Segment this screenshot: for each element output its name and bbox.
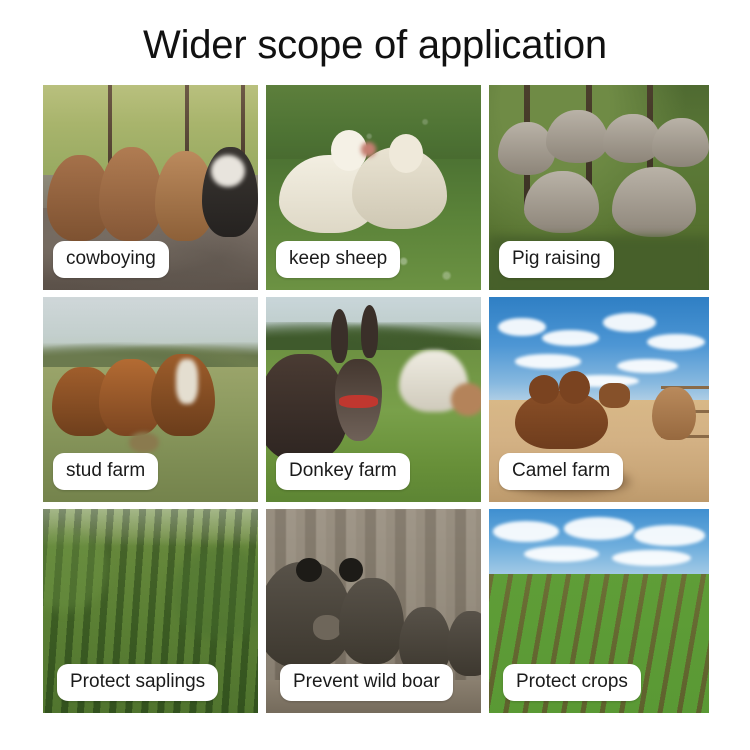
promo-grid-page: Wider scope of application cowboying (0, 0, 750, 750)
cell-label-donkey-farm: Donkey farm (276, 453, 410, 490)
page-title: Wider scope of application (0, 22, 750, 68)
grid-cell-cowboying[interactable]: cowboying (43, 85, 258, 290)
cell-label-stud-farm: stud farm (53, 453, 158, 490)
grid-cell-protect-crops[interactable]: Protect crops (489, 509, 709, 713)
grid-cell-keep-sheep[interactable]: keep sheep (266, 85, 481, 290)
grid-cell-pig-raising[interactable]: Pig raising (489, 85, 709, 290)
grid-cell-protect-saplings[interactable]: Protect saplings (43, 509, 258, 713)
cell-label-camel-farm: Camel farm (499, 453, 623, 490)
application-scope-grid: cowboying keep sheep (43, 85, 708, 712)
grid-cell-prevent-wild-boar[interactable]: Prevent wild boar (266, 509, 481, 713)
cell-label-prevent-wild-boar: Prevent wild boar (280, 664, 453, 701)
cell-label-cowboying: cowboying (53, 241, 169, 278)
grid-cell-camel-farm[interactable]: Camel farm (489, 297, 709, 502)
cell-label-protect-saplings: Protect saplings (57, 664, 218, 701)
cell-label-pig-raising: Pig raising (499, 241, 614, 278)
grid-cell-stud-farm[interactable]: stud farm (43, 297, 258, 502)
cell-label-protect-crops: Protect crops (503, 664, 641, 701)
cell-label-keep-sheep: keep sheep (276, 241, 400, 278)
grid-cell-donkey-farm[interactable]: Donkey farm (266, 297, 481, 502)
